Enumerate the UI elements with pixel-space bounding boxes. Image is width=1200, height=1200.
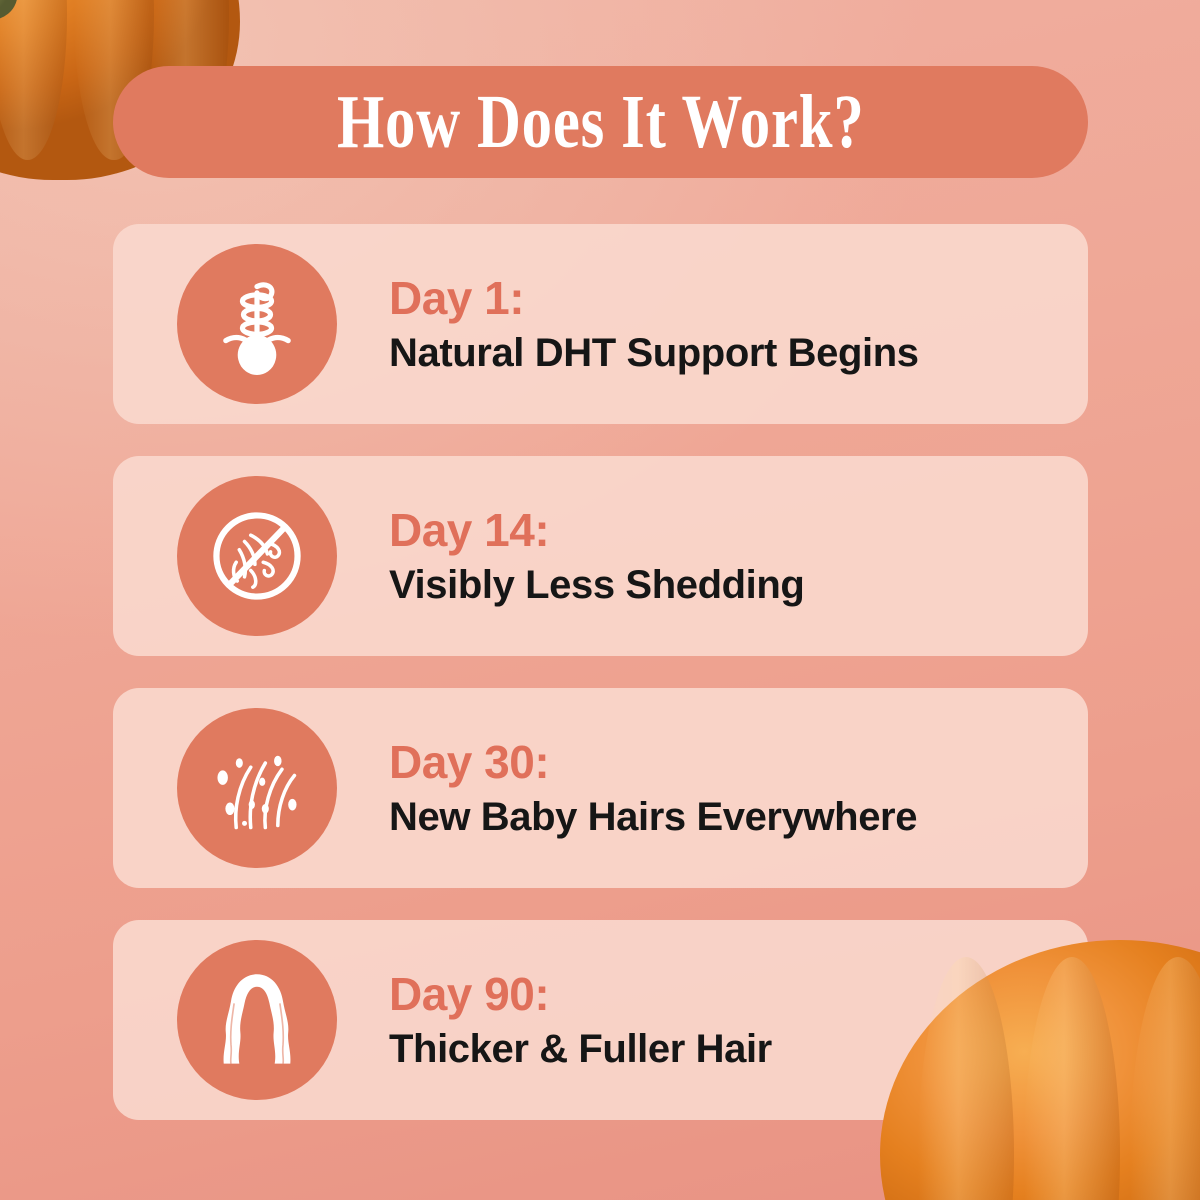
timeline-card-text: Day 1: Natural DHT Support Begins bbox=[389, 271, 919, 377]
timeline-list: Day 1: Natural DHT Support Begins bbox=[113, 224, 1088, 1120]
timeline-card-text: Day 90: Thicker & Fuller Hair bbox=[389, 967, 772, 1073]
day-label: Day 30: bbox=[389, 735, 917, 789]
timeline-card-text: Day 30: New Baby Hairs Everywhere bbox=[389, 735, 917, 841]
day-label: Day 1: bbox=[389, 271, 919, 325]
title-banner: How Does It Work? bbox=[113, 66, 1088, 178]
no-shedding-icon bbox=[177, 476, 337, 636]
timeline-card-day-90[interactable]: Day 90: Thicker & Fuller Hair bbox=[113, 920, 1088, 1120]
pumpkin-rib bbox=[1130, 957, 1200, 1200]
timeline-card-text: Day 14: Visibly Less Shedding bbox=[389, 503, 804, 609]
day-description: Thicker & Fuller Hair bbox=[389, 1025, 772, 1073]
timeline-card-day-1[interactable]: Day 1: Natural DHT Support Begins bbox=[113, 224, 1088, 424]
timeline-card-day-14[interactable]: Day 14: Visibly Less Shedding bbox=[113, 456, 1088, 656]
infographic-stage: How Does It Work? Day 1: Natural DHT bbox=[0, 0, 1200, 1200]
day-description: Visibly Less Shedding bbox=[389, 561, 804, 609]
hair-follicle-icon bbox=[177, 244, 337, 404]
day-label: Day 90: bbox=[389, 967, 772, 1021]
day-description: Natural DHT Support Begins bbox=[389, 329, 919, 377]
long-wavy-hair-icon bbox=[177, 940, 337, 1100]
timeline-card-day-30[interactable]: Day 30: New Baby Hairs Everywhere bbox=[113, 688, 1088, 888]
pumpkin-rib bbox=[0, 0, 67, 160]
page-title: How Does It Work? bbox=[337, 84, 865, 160]
scalp-new-hairs-icon bbox=[177, 708, 337, 868]
pumpkin-stem bbox=[0, 0, 24, 31]
day-label: Day 14: bbox=[389, 503, 804, 557]
day-description: New Baby Hairs Everywhere bbox=[389, 793, 917, 841]
